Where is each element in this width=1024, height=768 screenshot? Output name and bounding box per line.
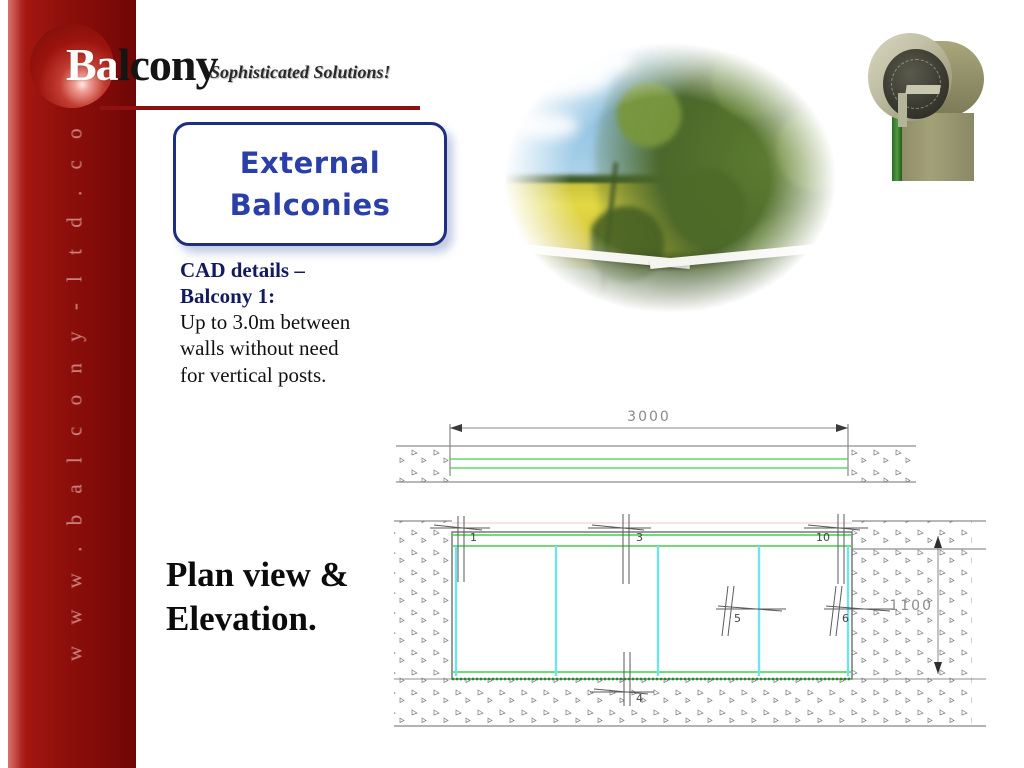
cad-callout-label-6: 6 <box>842 612 849 625</box>
dimension-label-1100: 1100 <box>889 598 933 614</box>
plan-view-label-line-2: Elevation. <box>166 597 406 641</box>
plan-view-label: Plan view & Elevation. <box>166 553 406 641</box>
cad-callout-label-5: 5 <box>734 612 741 625</box>
handrail-profile-section <box>862 25 990 180</box>
logo-underline-rule <box>100 106 420 110</box>
cad-callout-label-10: 10 <box>816 531 830 544</box>
cad-body-line-2: walls without need <box>180 335 430 361</box>
title-line-2: Balconies <box>230 184 391 226</box>
sidebar-sheen <box>8 0 26 768</box>
cad-callout-label-3: 3 <box>636 531 643 544</box>
cad-drawing: 3000 <box>386 404 986 734</box>
profile-glazing-slot <box>905 85 940 94</box>
cad-plan-view: 3000 <box>396 409 916 482</box>
profile-inner-bore <box>883 49 949 119</box>
cad-callout-label-4: 4 <box>636 692 643 705</box>
cad-drawing-svg: 3000 <box>386 404 986 734</box>
sidebar-brand-band: w w w . b a l c o n y - l t d . c o m <box>8 0 136 768</box>
balcony-view-photo <box>505 44 835 312</box>
title-callout-box: External Balconies <box>173 122 447 246</box>
cad-callout-3: 3 <box>588 514 651 584</box>
dimension-label-3000: 3000 <box>627 409 671 425</box>
logo-wordmark-light: Ba <box>66 39 118 90</box>
cad-callout-label-1: 1 <box>470 531 477 544</box>
slide-canvas: w w w . b a l c o n y - l t d . c o m Ba… <box>0 0 1024 768</box>
cad-elevation-view: 1 3 10 <box>394 514 986 726</box>
title-line-1: External <box>240 142 381 184</box>
photo-cloud <box>512 114 578 138</box>
cad-body-line-1: Up to 3.0m between <box>180 309 430 335</box>
logo-wordmark-dark: lcony <box>118 39 218 90</box>
profile-skirt-panel <box>900 113 974 181</box>
cad-heading-line-1: CAD details – <box>180 258 430 284</box>
cad-body-line-3: for vertical posts. <box>180 362 430 388</box>
plan-view-label-line-1: Plan view & <box>166 553 406 597</box>
sidebar-website-url: w w w . b a l c o n y - l t d . c o m <box>62 52 102 692</box>
brand-logo: Balcony Sophisticated Solutions! <box>18 20 418 112</box>
logo-wordmark: Balcony <box>66 38 217 91</box>
profile-web-rib <box>898 93 907 127</box>
cad-description-block: CAD details – Balcony 1: Up to 3.0m betw… <box>180 258 430 388</box>
profile-end-ring <box>868 33 952 121</box>
cad-callout-5: 5 <box>716 586 786 636</box>
logo-tagline: Sophisticated Solutions! <box>210 62 391 83</box>
cad-heading-line-2: Balcony 1: <box>180 284 430 310</box>
